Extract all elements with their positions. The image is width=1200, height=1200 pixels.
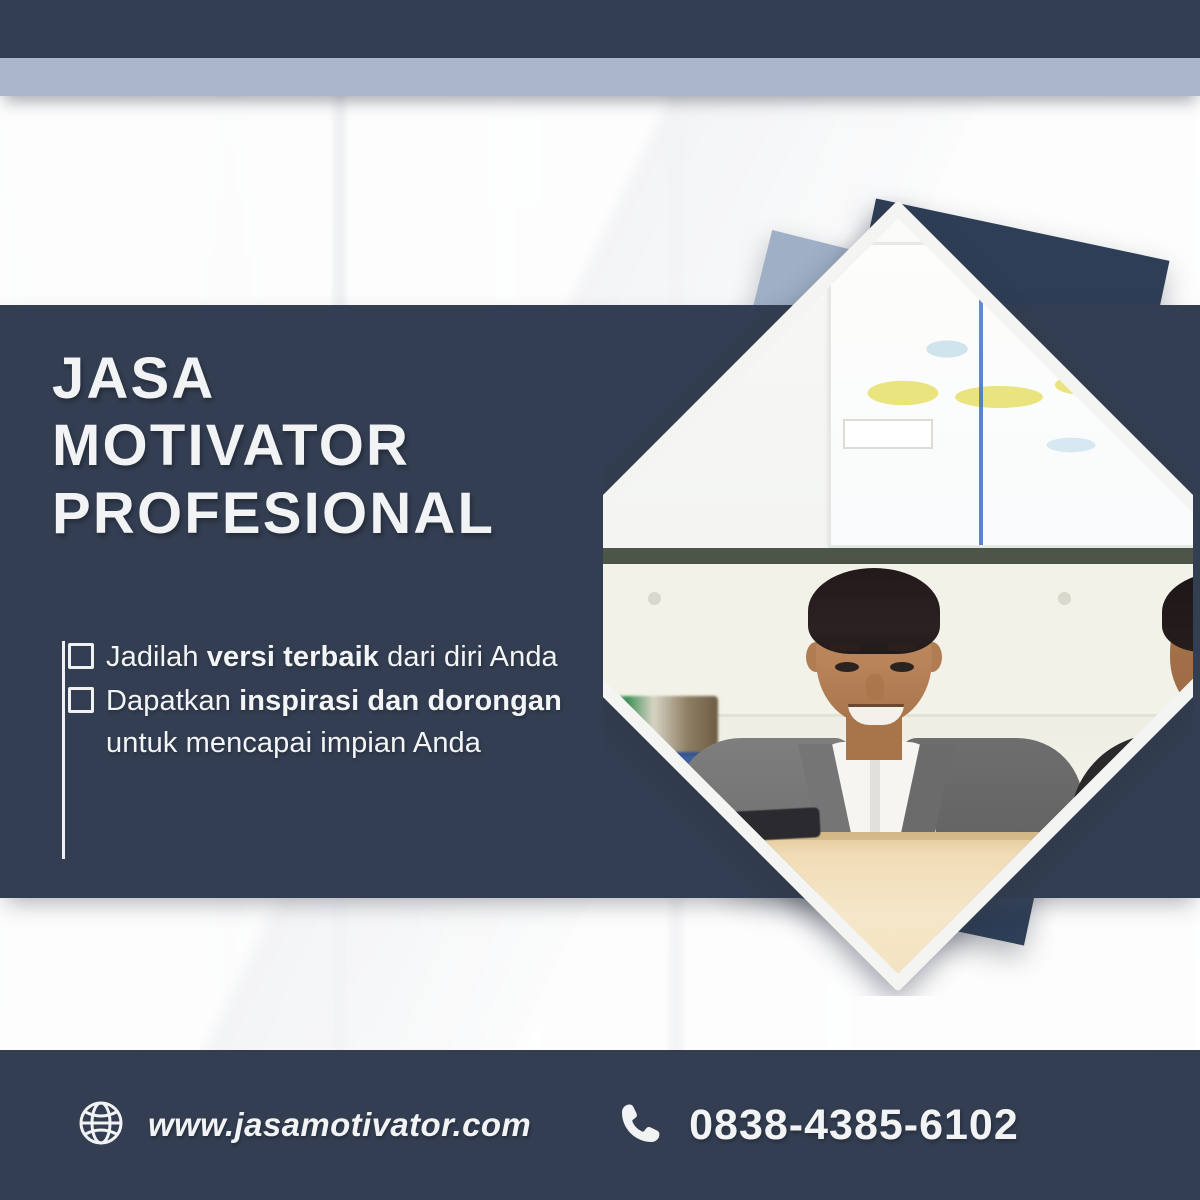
phone-label: 0838-4385-6102 [689, 1101, 1019, 1150]
website-contact[interactable]: www.jasamotivator.com [78, 1100, 531, 1151]
benefit-text: Jadilah versi terbaik dari diri Anda [106, 641, 558, 673]
benefit-item: Dapatkan inspirasi dan dorongan untuk me… [106, 681, 607, 765]
benefits-list-wrapper: Jadilah versi terbaik dari diri AndaDapa… [62, 637, 607, 766]
photo-light-overlay [603, 218, 1193, 973]
meeting-photo [603, 218, 1193, 973]
benefits-list: Jadilah versi terbaik dari diri AndaDapa… [62, 637, 607, 764]
square-bullet-icon [68, 687, 94, 713]
photo-blue-box [1164, 792, 1193, 856]
accent-rule [62, 641, 65, 859]
top-accent-band [0, 58, 1200, 96]
headline-line-1: JASA [52, 345, 612, 412]
square-bullet-icon [68, 643, 94, 669]
promo-poster: JASA MOTIVATOR PROFESIONAL Jadilah versi… [0, 0, 1200, 1200]
globe-icon [78, 1100, 124, 1151]
website-label: www.jasamotivator.com [148, 1106, 531, 1144]
headline-line-2: MOTIVATOR [52, 412, 612, 479]
phone-contact[interactable]: 0838-4385-6102 [617, 1099, 1019, 1152]
photo-frame-wrapper [603, 196, 1193, 996]
benefit-item: Jadilah versi terbaik dari diri Anda [106, 637, 607, 679]
benefit-text: Dapatkan inspirasi dan dorongan untuk me… [106, 685, 562, 759]
diamond-photo-frame [603, 200, 1193, 992]
page-title: JASA MOTIVATOR PROFESIONAL [52, 345, 612, 547]
phone-icon [617, 1099, 665, 1152]
photo-water-bottle [1126, 744, 1160, 840]
footer-bar: www.jasamotivator.com 0838-4385-6102 [0, 1050, 1200, 1200]
headline-line-3: PROFESIONAL [52, 480, 612, 547]
copy-block: JASA MOTIVATOR PROFESIONAL Jadilah versi… [0, 305, 620, 898]
top-dark-band [0, 0, 1200, 58]
diamond-photo-clip [603, 218, 1193, 973]
